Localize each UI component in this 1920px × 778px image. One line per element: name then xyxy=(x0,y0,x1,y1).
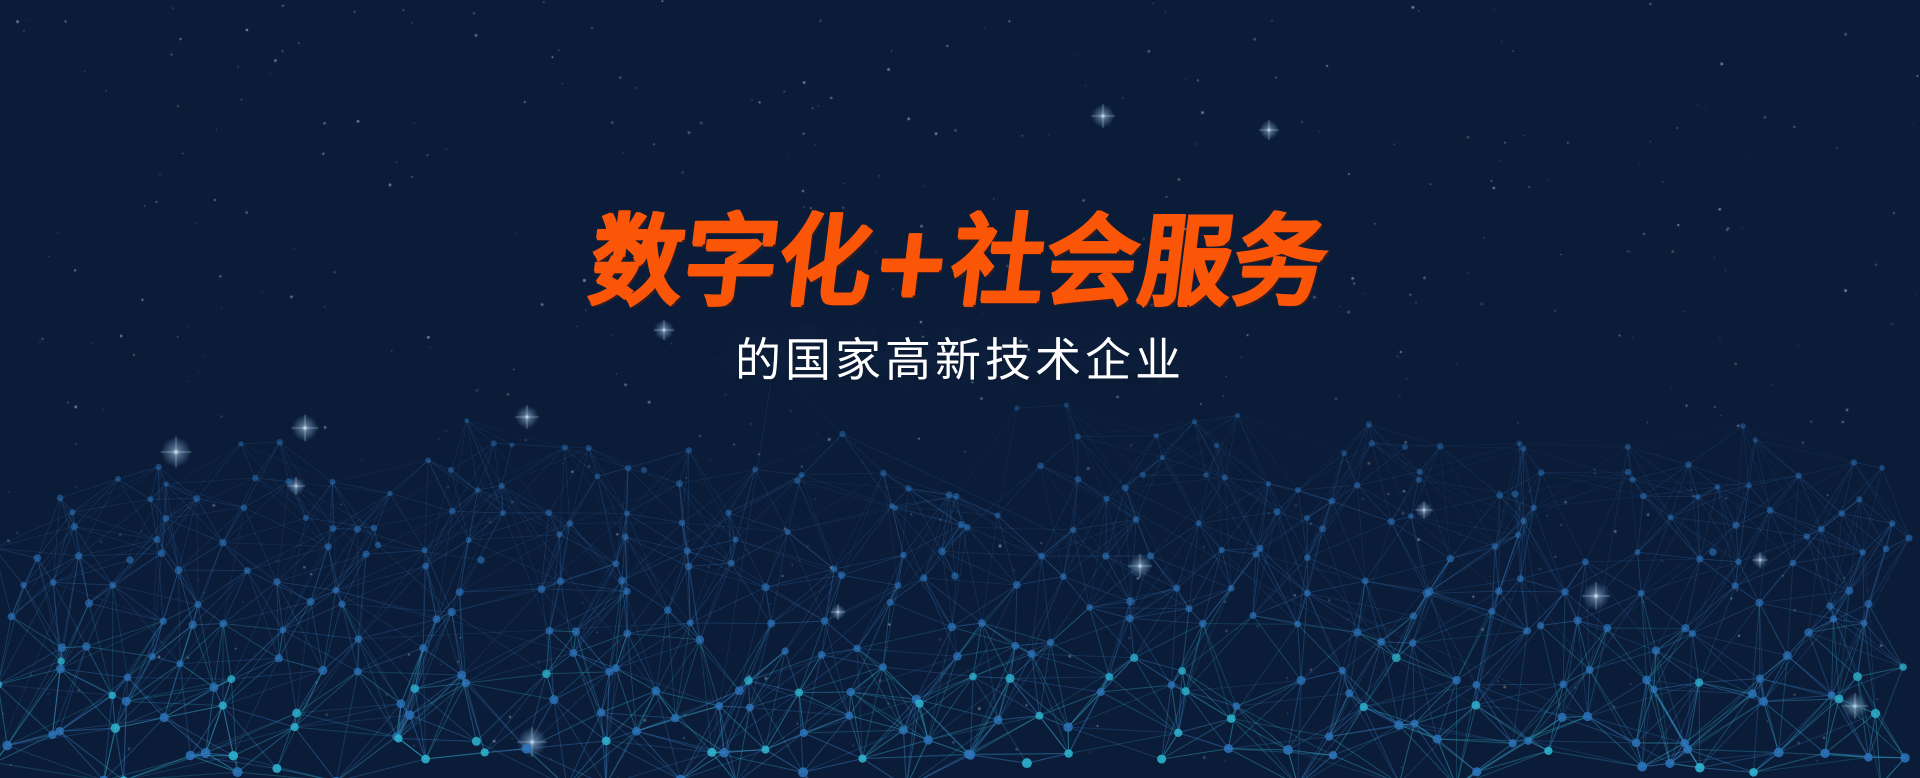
network-mesh-graphic xyxy=(0,0,1920,778)
network-mesh-svg xyxy=(0,0,1920,778)
hero-banner: 数字化+社会服务 的国家高新技术企业 xyxy=(0,0,1920,778)
